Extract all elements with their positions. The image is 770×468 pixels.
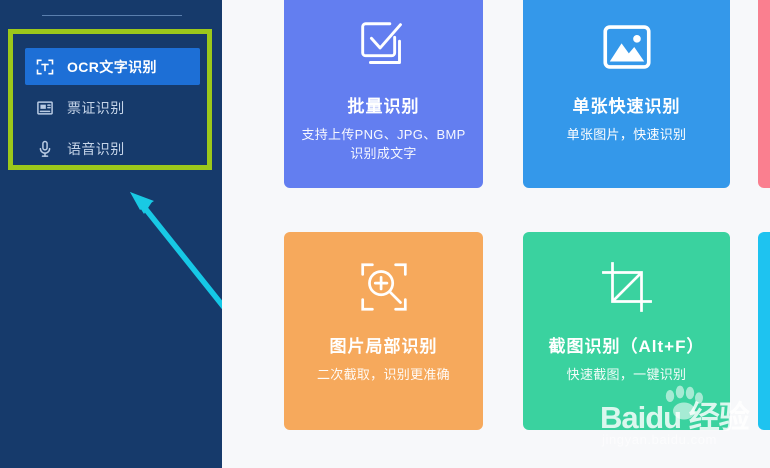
card-partial-cyan[interactable]	[758, 232, 770, 430]
main-content: 批量识别 支持上传PNG、JPG、BMP 识别成文字 单张快速识别 单张图片，快…	[222, 0, 770, 468]
card-batch-recognition[interactable]: 批量识别 支持上传PNG、JPG、BMP 识别成文字	[284, 0, 483, 188]
card-title: 批量识别	[348, 92, 420, 117]
card-capture-recognition[interactable]: 截图识别（Alt+F） 快速截图，一键识别	[523, 232, 730, 430]
microphone-icon	[33, 137, 57, 161]
magnifier-plus-scan-icon	[353, 250, 415, 324]
batch-checkbox-icon	[353, 10, 415, 84]
card-title: 图片局部识别	[330, 332, 438, 357]
card-description: 支持上传PNG、JPG、BMP 识别成文字	[284, 125, 483, 163]
sidebar-item-label: OCR文字识别	[67, 57, 157, 77]
sidebar-item-id-card[interactable]: 票证识别	[25, 89, 200, 126]
ocr-scan-icon	[33, 55, 57, 79]
sidebar-nav: OCR文字识别 票证识别	[25, 48, 200, 171]
card-partial-pink[interactable]	[758, 0, 770, 188]
id-card-icon	[33, 96, 57, 120]
card-single-recognition[interactable]: 单张快速识别 单张图片，快速识别	[523, 0, 730, 188]
sidebar-item-label: 语音识别	[67, 139, 125, 159]
image-picture-icon	[598, 10, 656, 84]
sidebar-item-voice[interactable]: 语音识别	[25, 130, 200, 167]
sidebar-item-label: 票证识别	[67, 98, 125, 118]
card-description: 快速截图，一键识别	[555, 365, 699, 384]
sidebar-item-ocr[interactable]: OCR文字识别	[25, 48, 200, 85]
card-description: 单张图片，快速识别	[555, 125, 699, 144]
card-title: 截图识别（Alt+F）	[549, 332, 705, 357]
sidebar-divider	[42, 15, 182, 16]
crop-icon	[598, 250, 656, 324]
app-window: OCR文字识别 票证识别	[0, 0, 770, 468]
card-description: 二次截取，识别更准确	[305, 365, 462, 384]
card-region-recognition[interactable]: 图片局部识别 二次截取，识别更准确	[284, 232, 483, 430]
sidebar: OCR文字识别 票证识别	[0, 0, 222, 468]
card-title: 单张快速识别	[573, 92, 681, 117]
